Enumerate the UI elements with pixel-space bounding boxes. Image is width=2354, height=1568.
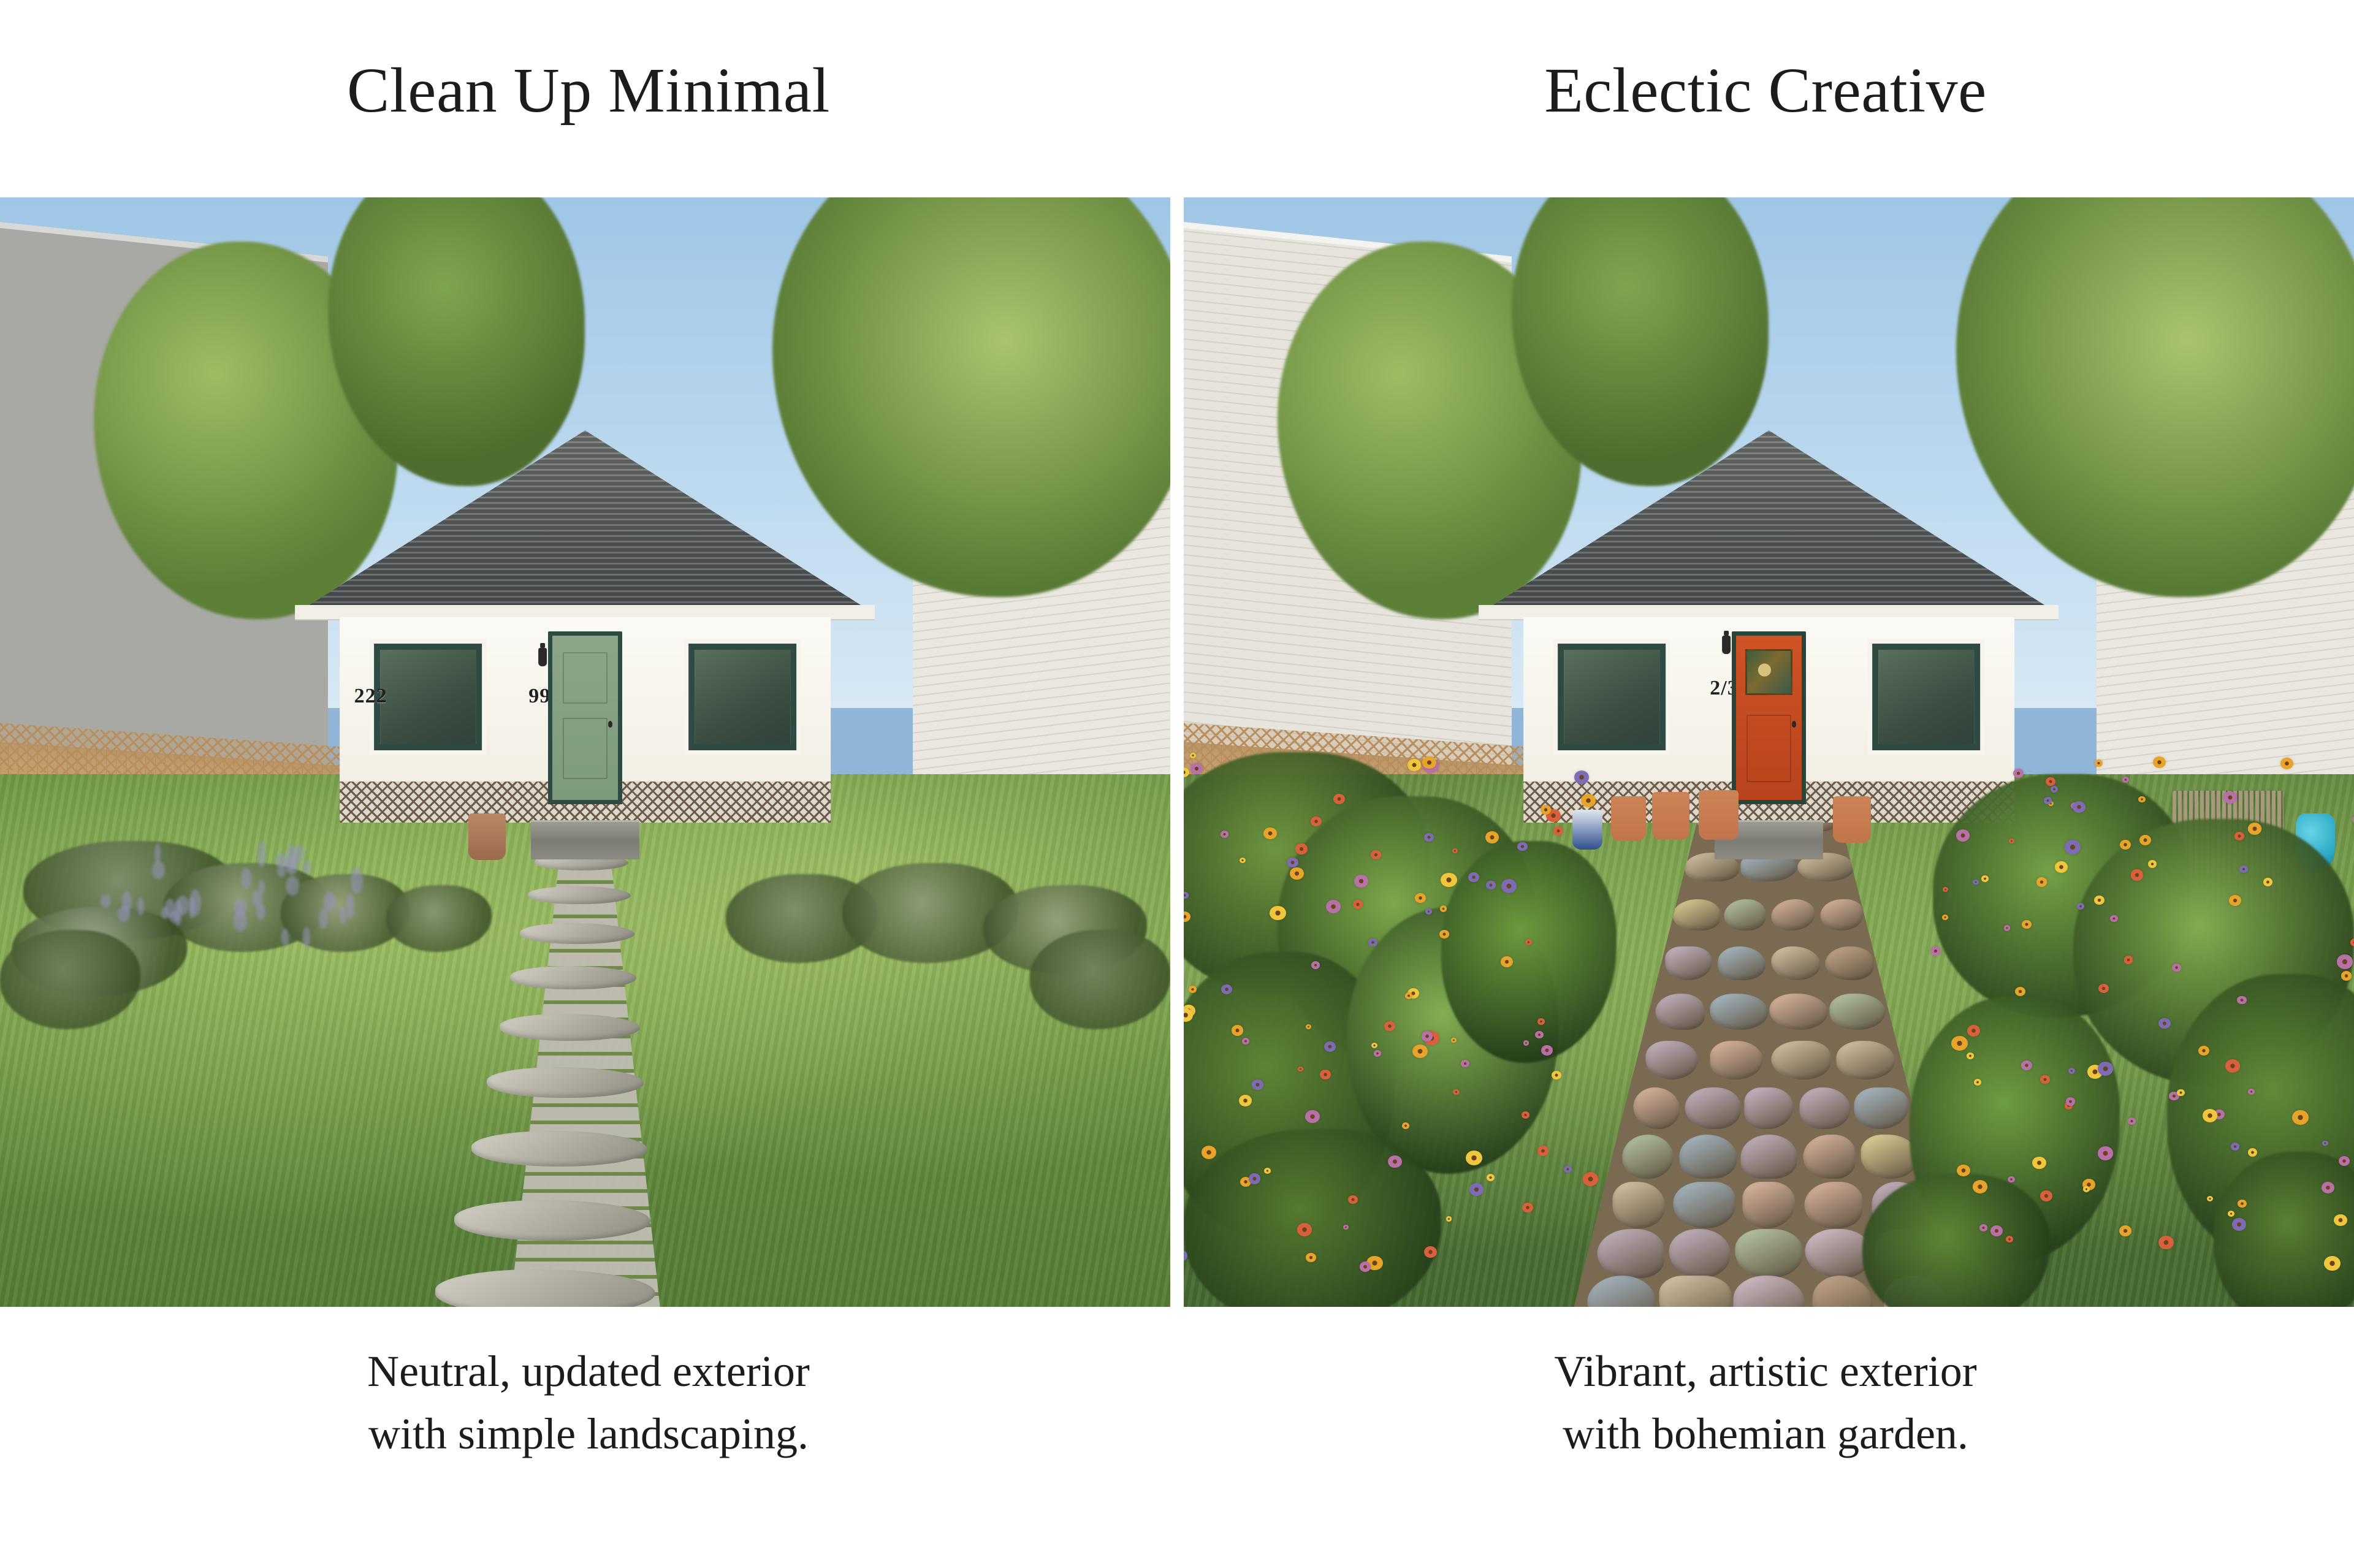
flower	[2021, 1060, 2032, 1070]
door-panel-bottom	[563, 718, 607, 779]
mosaic-flagstone	[1837, 1041, 1895, 1080]
mosaic-flagstone	[1854, 1087, 1908, 1129]
flower	[1249, 1173, 1260, 1184]
window-right	[688, 644, 796, 750]
flower	[1333, 794, 1345, 804]
lavender-spike	[303, 927, 310, 948]
flower	[2334, 1214, 2347, 1226]
flower	[1461, 1060, 1469, 1067]
flower	[1425, 908, 1432, 915]
window-left	[374, 644, 482, 750]
flower	[1537, 1018, 1545, 1025]
window-right	[1872, 644, 1980, 750]
flower	[1324, 1041, 1336, 1052]
front-door-orange[interactable]	[1732, 631, 1805, 804]
mosaic-flagstone	[1685, 1087, 1741, 1129]
flower	[2098, 1146, 2114, 1160]
flower	[1422, 756, 1436, 769]
mosaic-flagstone	[1771, 1041, 1830, 1080]
terracotta-pot	[468, 813, 506, 860]
flower	[2158, 1018, 2170, 1029]
flower	[2008, 1176, 2014, 1182]
flower	[2119, 1225, 2131, 1236]
stepping-stone	[487, 1067, 644, 1098]
flower	[2006, 1236, 2013, 1243]
flower	[1973, 880, 1978, 885]
lavender-spike	[152, 861, 164, 879]
flower	[2148, 860, 2157, 867]
lavender-spike	[241, 868, 251, 888]
mosaic-flagstone	[1744, 1087, 1793, 1129]
flower	[1320, 1070, 1331, 1079]
flower	[1264, 1168, 1271, 1174]
flower	[2239, 866, 2248, 873]
lavender-spike	[101, 894, 110, 908]
mosaic-flagstone	[1825, 946, 1873, 980]
flower	[1951, 1036, 1967, 1051]
flower	[1552, 1071, 1561, 1079]
right-title-cell: Eclectic Creative	[1177, 0, 2354, 197]
door-panel-bottom	[1746, 715, 1791, 783]
lavender-spike	[137, 897, 143, 915]
mosaic-flagstone	[1769, 994, 1827, 1030]
flower	[1990, 1225, 2003, 1236]
photos-row: 222 99	[0, 197, 2354, 1307]
right-panel-title: Eclectic Creative	[1544, 59, 1987, 139]
right-photo-eclectic-exterior: 2/3	[1184, 197, 2354, 1307]
mosaic-flagstone	[1740, 1135, 1797, 1179]
terracotta-pot	[1699, 790, 1739, 840]
left-photo-minimal-exterior: 222 99	[0, 197, 1170, 1307]
terracotta-pot	[1611, 796, 1646, 840]
flower	[1581, 794, 1596, 807]
mosaic-flagstone	[1742, 1182, 1795, 1228]
porch-lamp-icon	[1722, 636, 1731, 654]
mosaic-flagstone	[1588, 1276, 1656, 1307]
flower	[2051, 786, 2058, 792]
flower	[1942, 915, 1948, 920]
flower	[1501, 956, 1513, 967]
flower	[2238, 1200, 2247, 1208]
flower	[1439, 930, 1449, 939]
flower	[1221, 831, 1228, 838]
flower	[2022, 920, 2032, 929]
flower	[2232, 1218, 2246, 1231]
garden-border-mass	[1862, 1174, 2049, 1307]
flower	[1523, 1040, 1529, 1045]
flower	[2036, 877, 2047, 886]
mosaic-flagstone	[1733, 1276, 1804, 1307]
flower	[1360, 1262, 1371, 1271]
mosaic-flagstone	[1597, 1229, 1664, 1278]
lavender-spike	[256, 904, 265, 921]
flower	[2065, 840, 2081, 854]
flower	[1270, 906, 1286, 921]
flower	[1306, 1253, 1316, 1262]
flower	[1486, 881, 1496, 889]
mosaic-flagstone	[1669, 1229, 1731, 1278]
mosaic-flagstone	[1771, 946, 1821, 980]
flower	[2004, 925, 2011, 931]
flower	[2128, 1117, 2136, 1125]
mosaic-flagstone	[1672, 899, 1720, 931]
right-caption-line-1: Vibrant, artistic exterior	[1554, 1340, 1976, 1402]
terracotta-pot	[1833, 796, 1870, 843]
flower	[1422, 1031, 1433, 1041]
flower	[1466, 1151, 1482, 1165]
flower	[1967, 1025, 1980, 1037]
front-door-sage[interactable]	[548, 631, 622, 804]
left-caption-cell: Neutral, updated exterior with simple la…	[0, 1340, 1177, 1568]
mosaic-flagstone	[1804, 1135, 1856, 1179]
flower	[1453, 1089, 1460, 1095]
mosaic-flagstone	[1673, 1182, 1735, 1228]
flower	[1354, 875, 1368, 888]
door-panel-top	[563, 652, 607, 704]
flower	[1440, 905, 1447, 911]
mosaic-flagstone	[1634, 1087, 1680, 1129]
flower	[2248, 823, 2261, 834]
flower	[2044, 797, 2052, 804]
left-caption-line-2: with simple landscaping.	[368, 1402, 809, 1465]
flower	[1371, 1043, 1377, 1048]
mosaic-flagstone	[1812, 1276, 1873, 1307]
flower	[1468, 872, 1479, 882]
flower	[1537, 1146, 1549, 1156]
mosaic-flagstone	[1805, 1182, 1863, 1228]
window-left	[1558, 644, 1666, 750]
flower	[1290, 867, 1303, 880]
flower	[1501, 879, 1517, 893]
flower	[1190, 753, 1196, 758]
flower	[2341, 971, 2352, 981]
flower	[2337, 954, 2353, 969]
flower	[1415, 893, 1426, 903]
flower	[2124, 956, 2133, 964]
flower	[1295, 843, 1308, 854]
flower	[1525, 939, 1532, 945]
mosaic-flagstone	[1680, 1135, 1737, 1179]
lavender-spike	[174, 900, 182, 926]
mosaic-flagstone	[1735, 1229, 1802, 1278]
flower	[1485, 831, 1499, 843]
titles-row: Clean Up Minimal Eclectic Creative	[0, 0, 2354, 197]
flower	[1371, 850, 1381, 859]
mosaic-flagstone	[1656, 994, 1705, 1030]
flower	[2098, 984, 2109, 994]
flower	[1252, 1079, 1263, 1089]
lavender-spike	[351, 867, 363, 894]
flower	[1956, 829, 1970, 842]
flower	[2153, 756, 2166, 768]
flower	[1541, 1045, 1552, 1056]
right-caption-line-2: with bohemian garden.	[1563, 1402, 1968, 1465]
left-title-cell: Clean Up Minimal	[0, 0, 1177, 197]
flower	[2066, 1097, 2075, 1105]
cottage: 2/3	[1523, 430, 2015, 841]
left-caption-line-1: Neutral, updated exterior	[367, 1340, 810, 1402]
flower	[1263, 828, 1277, 839]
door-knob-icon[interactable]	[608, 721, 612, 728]
flower	[2009, 839, 2014, 843]
flower	[2032, 1157, 2046, 1170]
house-number-left: 222	[354, 685, 387, 708]
mosaic-flagstone	[1665, 946, 1712, 980]
flower	[2237, 996, 2246, 1005]
flower	[2292, 1110, 2309, 1125]
flower	[1239, 1095, 1252, 1106]
flower	[1368, 938, 1377, 946]
stepping-stone	[454, 1200, 651, 1241]
shingle-roof	[1484, 430, 2054, 611]
comparison-board: Clean Up Minimal Eclectic Creative	[0, 0, 2354, 1568]
flower	[2013, 769, 2024, 778]
flower	[1957, 1165, 1970, 1176]
lavender-spike	[118, 906, 130, 922]
flower	[1541, 805, 1551, 815]
flower	[1202, 1146, 1216, 1159]
flower	[2322, 1141, 2328, 1146]
flower	[1967, 1052, 1974, 1059]
flower	[1535, 1031, 1544, 1038]
captions-row: Neutral, updated exterior with simple la…	[0, 1307, 2354, 1568]
flower	[1930, 946, 1941, 956]
flower	[2234, 832, 2244, 840]
blue-white-ceramic-pot	[1572, 810, 1603, 850]
flower	[2280, 758, 2293, 769]
flower	[1305, 1110, 1320, 1124]
flower	[1574, 771, 1589, 784]
flower	[1979, 1224, 1987, 1231]
flower	[2322, 1182, 2334, 1193]
flower	[1353, 900, 1363, 908]
flower	[1240, 858, 1246, 863]
mosaic-flagstone	[1718, 946, 1766, 980]
mosaic-flagstone	[1805, 1229, 1872, 1278]
flower	[2095, 759, 2103, 766]
door-knob-icon[interactable]	[1792, 721, 1796, 728]
mosaic-flagstone	[1646, 1041, 1698, 1080]
mosaic-flagstone	[1613, 1182, 1666, 1228]
flower	[1287, 858, 1298, 868]
flower	[2231, 1143, 2239, 1151]
flower	[2248, 1089, 2255, 1095]
flower	[2172, 964, 2181, 972]
lavender-spike	[275, 853, 287, 867]
flower	[2177, 1089, 2184, 1096]
flower	[2225, 1059, 2240, 1073]
flower	[1446, 1216, 1452, 1222]
flower	[1522, 1111, 1529, 1119]
left-panel-title: Clean Up Minimal	[347, 59, 830, 139]
stepping-stone	[510, 966, 636, 989]
lavender-spike	[303, 860, 311, 873]
mosaic-flagstone	[1710, 1041, 1763, 1080]
stepping-stone	[528, 886, 631, 905]
flower	[2040, 1075, 2049, 1084]
flower	[2131, 869, 2143, 880]
mosaic-flagstone	[1724, 899, 1765, 931]
flower	[1326, 900, 1341, 913]
flower	[2073, 801, 2085, 813]
flower	[2138, 796, 2145, 802]
flower	[1311, 961, 1320, 969]
flower	[1451, 1038, 1457, 1043]
flower	[2223, 791, 2237, 804]
house-number-right: 99	[528, 685, 550, 708]
shingle-roof	[300, 430, 870, 611]
mosaic-flagstone	[1799, 1087, 1850, 1129]
mosaic-flagstone	[1710, 994, 1769, 1030]
flower	[1189, 986, 1197, 993]
mosaic-flagstone	[1771, 899, 1815, 931]
flower	[2263, 878, 2272, 886]
flower	[2324, 1256, 2340, 1271]
stepping-stone	[520, 923, 634, 944]
lavender-spike	[286, 876, 300, 896]
porch-lamp-icon	[538, 648, 547, 666]
flower	[1452, 848, 1458, 853]
mosaic-flagstone	[1659, 1276, 1731, 1307]
stepping-stone	[500, 1014, 640, 1040]
garden-border-mass	[1184, 1129, 1441, 1307]
flower	[1973, 1180, 1987, 1193]
flower	[2158, 1236, 2174, 1250]
front-steps	[531, 820, 639, 859]
mosaic-flagstone	[1623, 1135, 1674, 1179]
flower	[2098, 1062, 2113, 1076]
mosaic-flagstone	[1830, 994, 1886, 1030]
flower	[1402, 1122, 1409, 1129]
flower	[1553, 826, 1563, 835]
door-stained-glass	[1745, 649, 1792, 695]
right-caption-cell: Vibrant, artistic exterior with bohemian…	[1177, 1340, 2354, 1568]
terracotta-pot	[1652, 792, 1689, 840]
flower	[2198, 1046, 2209, 1056]
flower	[1232, 1025, 1243, 1035]
flower	[1424, 1246, 1437, 1258]
lavender-spike	[324, 892, 336, 913]
cottage: 222 99	[340, 430, 831, 841]
stepping-stone	[471, 1131, 647, 1166]
flower	[1348, 1195, 1358, 1204]
flower	[1517, 842, 1527, 851]
flower	[1412, 1045, 1428, 1059]
flower	[1981, 875, 1989, 882]
mosaic-flagstone	[1820, 899, 1862, 931]
flower	[1441, 873, 1457, 888]
